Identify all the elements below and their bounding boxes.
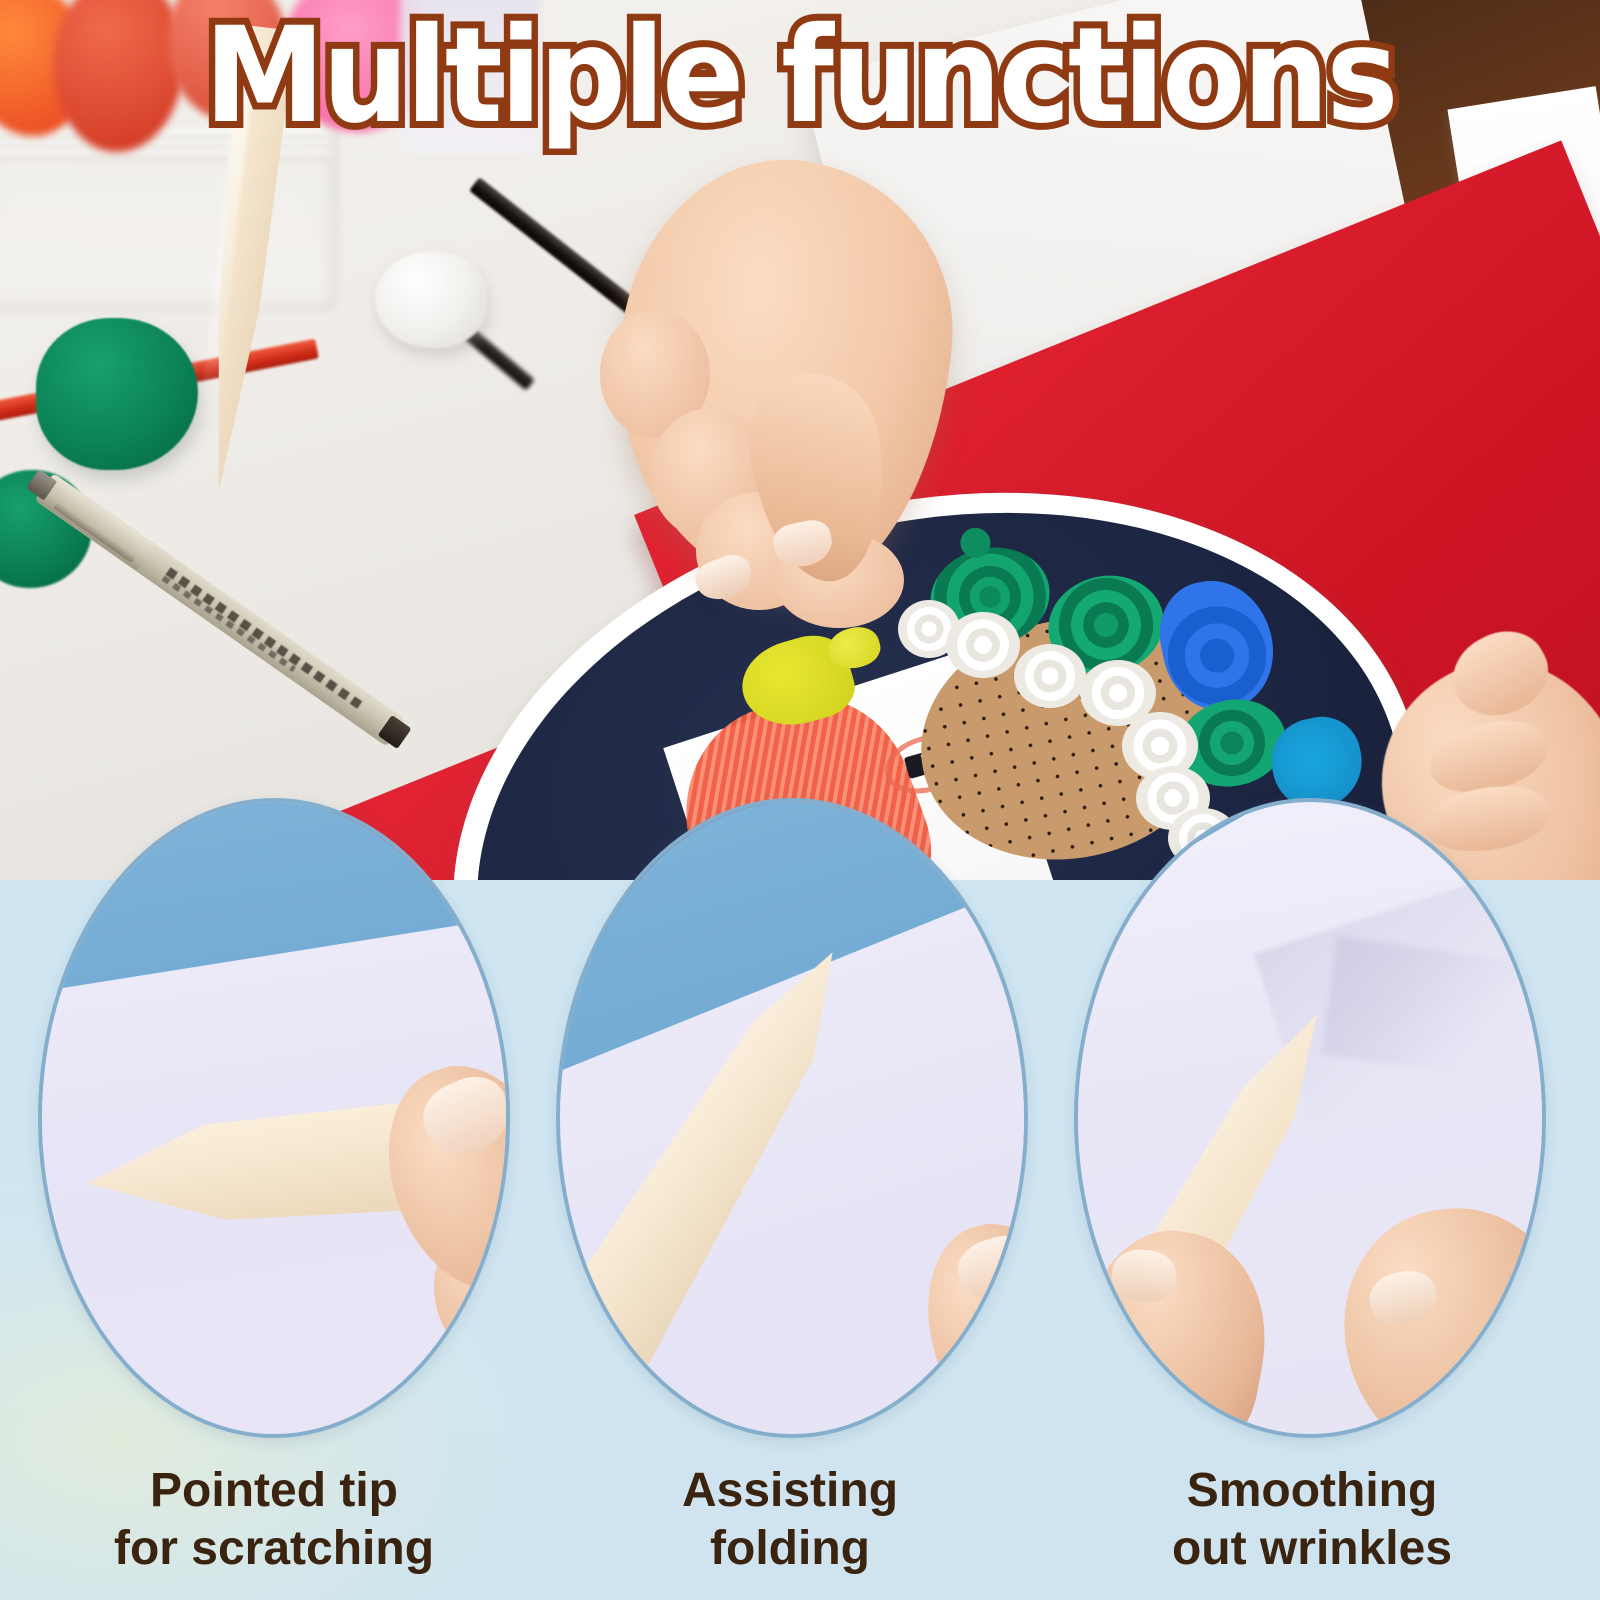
page-title: Multiple functions [64,16,1536,136]
caption-3-line-2: out wrinkles [1052,1520,1572,1578]
caption-pointed-tip: Pointed tip for scratching [14,1462,534,1578]
caption-3-line-1: Smoothing [1052,1462,1572,1520]
caption-2-line-2: folding [530,1520,1050,1578]
clay-green-ball-1 [36,318,198,470]
inset-pointed-tip[interactable] [38,798,510,1438]
inset-assisting-folding[interactable] [556,798,1028,1438]
caption-2-line-1: Assisting [530,1462,1050,1520]
main-photo-scene: ★ [0,0,1600,900]
caption-assisting-folding: Assisting folding [530,1462,1050,1578]
inset-3-background [1078,802,1542,1434]
inset-smoothing-wrinkles[interactable] [1074,798,1546,1438]
caption-1-line-2: for scratching [14,1520,534,1578]
clay-spiral-white-3 [1014,644,1086,708]
caption-smoothing-wrinkles: Smoothing out wrinkles [1052,1462,1572,1578]
caption-1-line-1: Pointed tip [14,1462,534,1520]
product-feature-banner: ★ [0,0,1600,1600]
inset-1-background [42,802,506,1434]
inset-2-background [560,802,1024,1434]
clay-white-ball [375,252,487,348]
crafting-hand [578,140,998,700]
